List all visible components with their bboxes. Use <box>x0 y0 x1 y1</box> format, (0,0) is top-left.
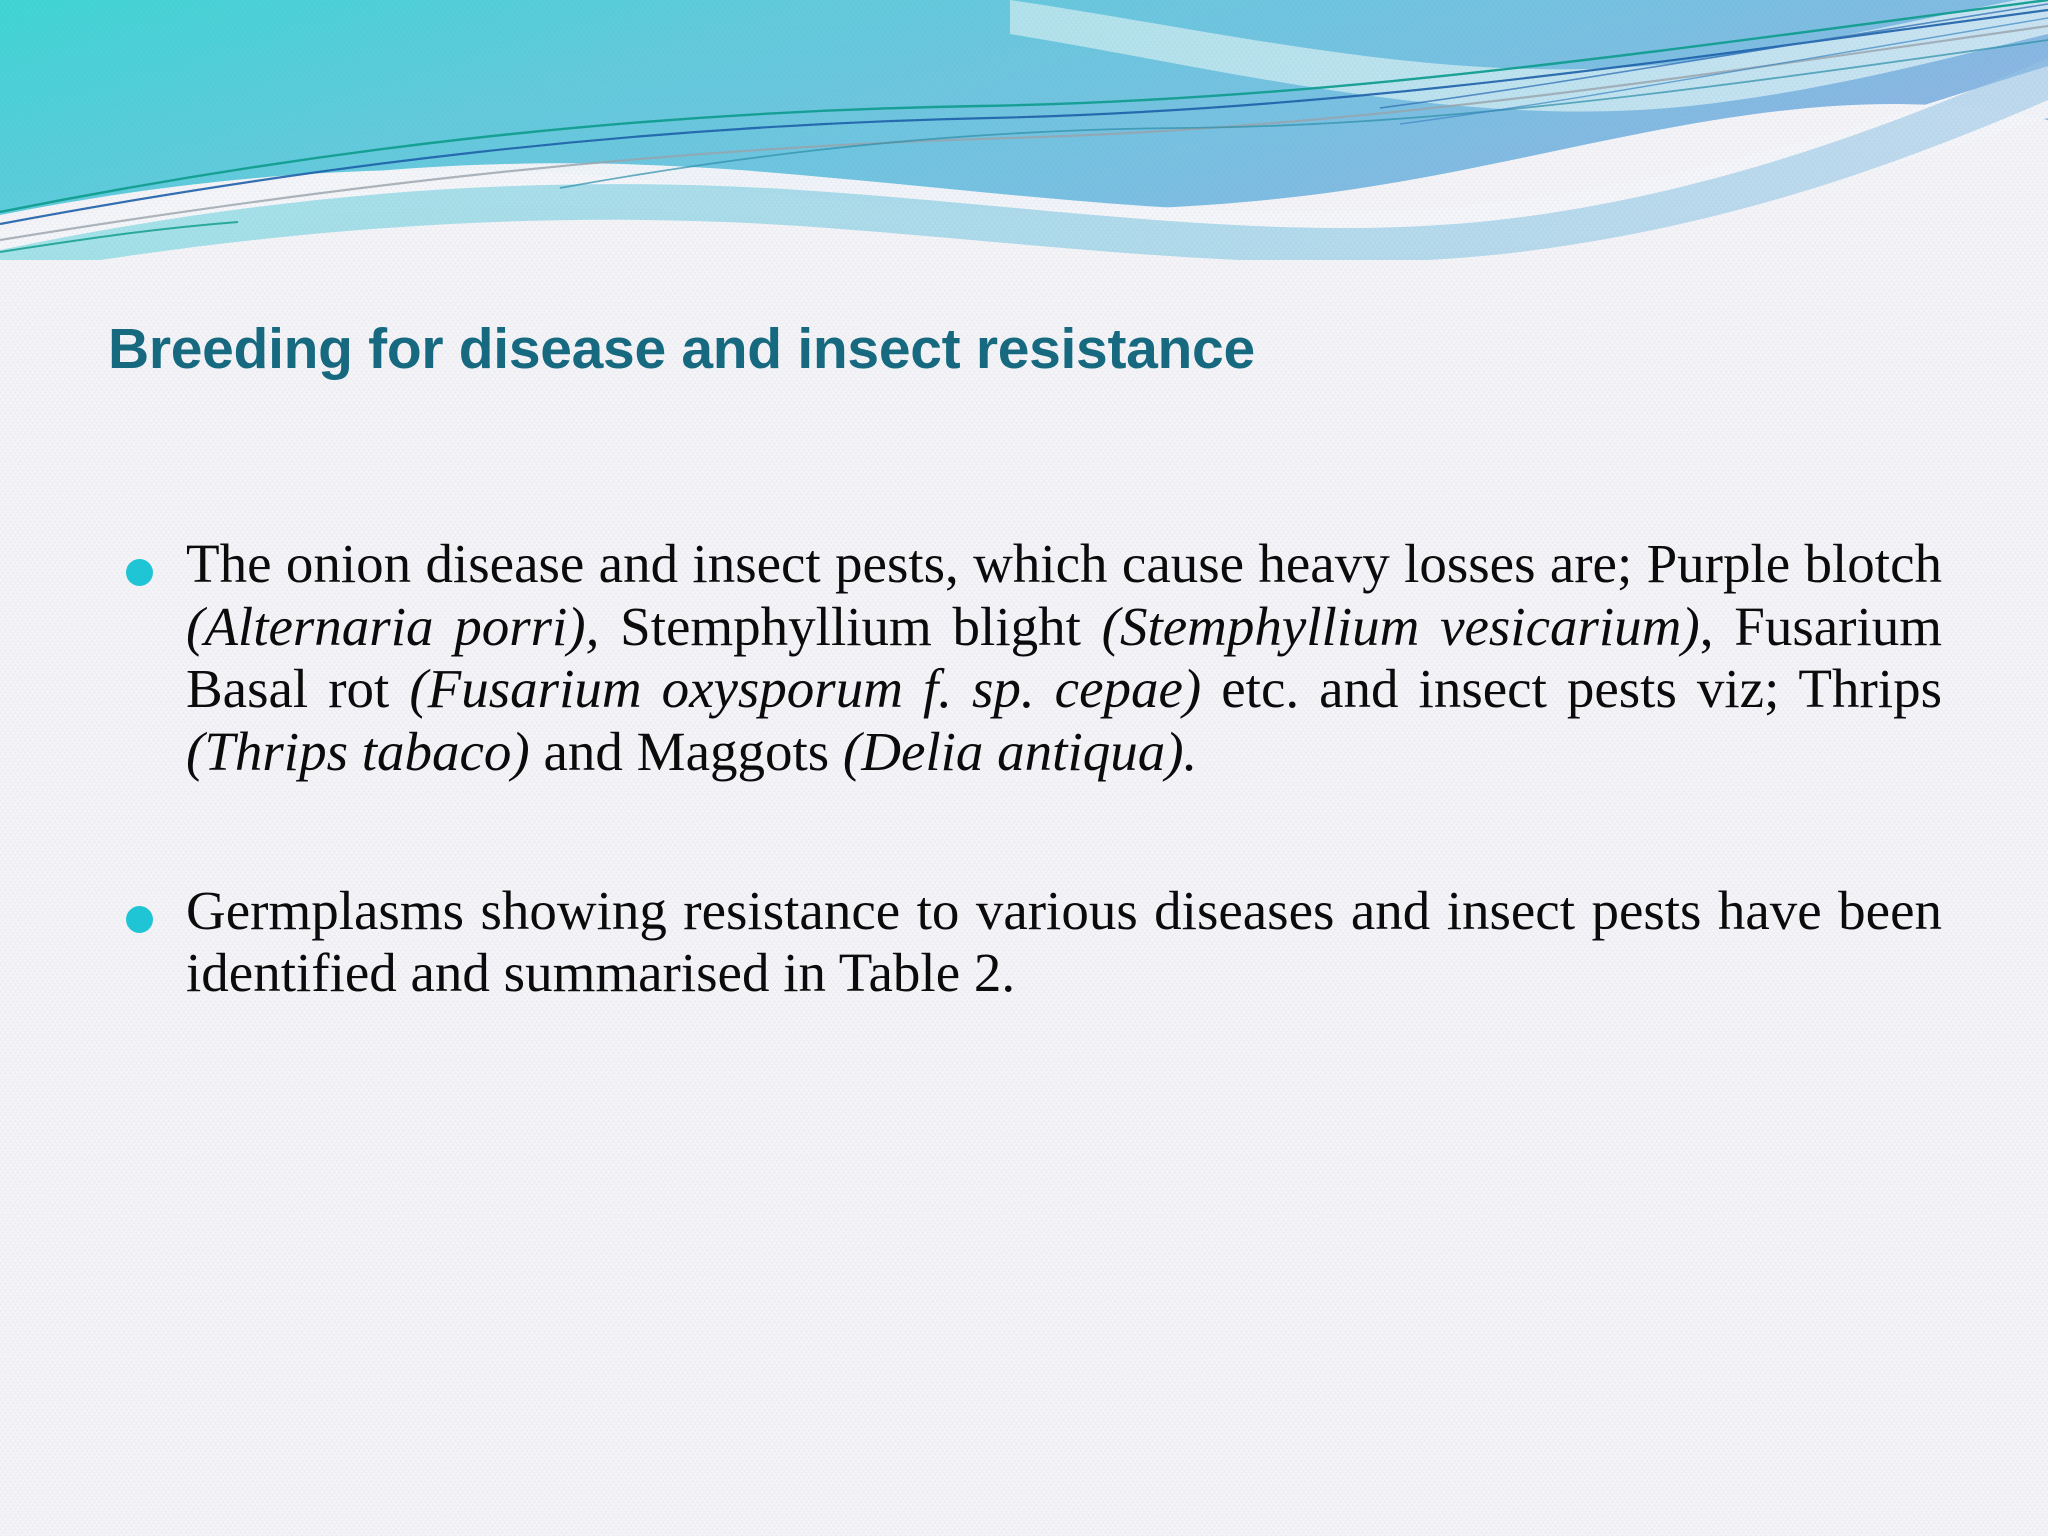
scientific-name: (Delia antiqua). <box>843 721 1197 782</box>
bullet-text-1: The onion disease and insect pests, whic… <box>186 533 1942 784</box>
scientific-name: (Alternaria porri), <box>186 596 599 657</box>
bullet-item-2: Germplasms showing resistance to various… <box>112 880 1942 1005</box>
bullet-text-2: Germplasms showing resistance to various… <box>186 880 1942 1005</box>
body-text-run: and Maggots <box>530 721 843 782</box>
body-text-run: Stemphyllium blight <box>599 596 1101 657</box>
bullet-item-1: The onion disease and insect pests, whic… <box>112 533 1942 784</box>
filled-circle-bullet-icon <box>126 906 153 933</box>
body-text-run: The onion disease and insect pests, whic… <box>186 533 1942 594</box>
scientific-name: (Stemphyllium vesicarium) <box>1102 596 1700 657</box>
slide-content: Breeding for disease and insect resistan… <box>0 0 2048 1536</box>
bullet-list: The onion disease and insect pests, whic… <box>112 478 1942 1060</box>
scientific-name: (Fusarium oxysporum f. sp. cepae) <box>409 658 1201 719</box>
presentation-slide: Breeding for disease and insect resistan… <box>0 0 2048 1536</box>
scientific-name: (Thrips tabaco) <box>186 721 530 782</box>
slide-title: Breeding for disease and insect resistan… <box>108 320 1255 380</box>
body-text-run: etc. and insect pests viz; Thrips <box>1201 658 1942 719</box>
filled-circle-bullet-icon <box>126 559 153 586</box>
body-text-run: Germplasms showing resistance to various… <box>186 880 1942 1004</box>
